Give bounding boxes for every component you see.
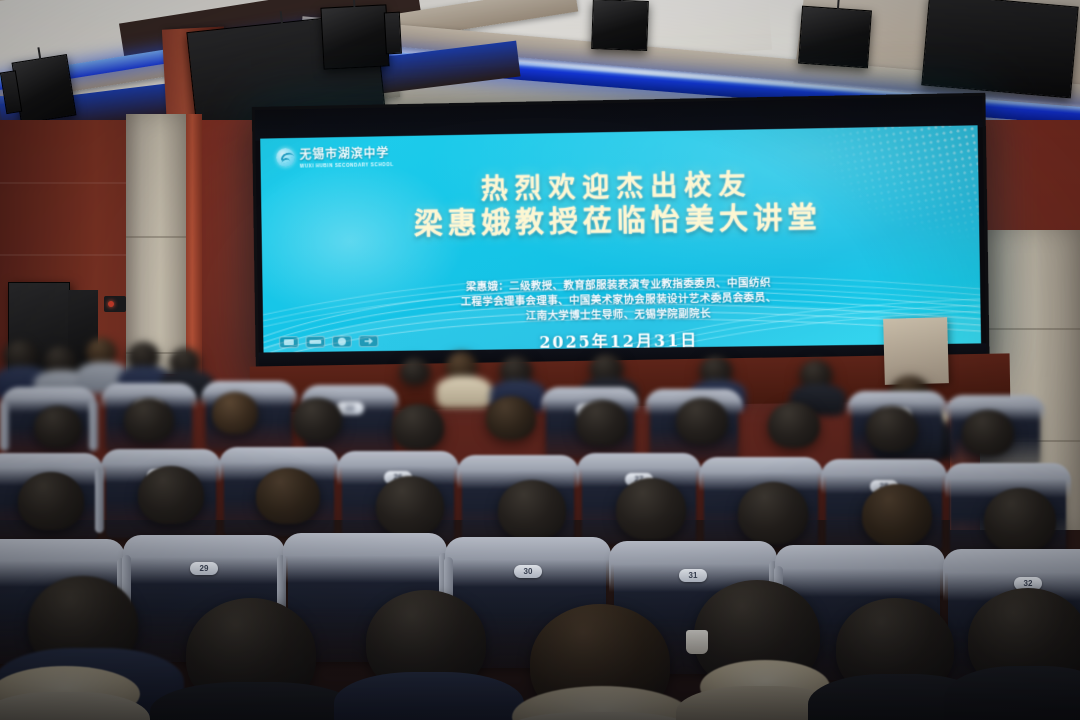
audience-head (862, 484, 932, 546)
ceiling-monitor (921, 0, 1078, 98)
slide-headline: 热烈欢迎杰出校友 梁惠娥教授莅临怡美大讲堂 (261, 166, 979, 245)
stage-light (11, 54, 76, 124)
audience-head (984, 488, 1056, 552)
seat-rim (123, 535, 285, 584)
audience-head (392, 404, 444, 450)
audience-head (738, 482, 808, 544)
audience-head (124, 398, 174, 442)
audience-head (18, 472, 84, 530)
audience-head (576, 400, 628, 446)
ceiling-speaker (798, 6, 872, 69)
audience-head (256, 468, 320, 524)
audience-shoulders (436, 376, 492, 408)
audience-head (962, 410, 1014, 456)
seat-armrest (89, 400, 98, 451)
seat-armrest (0, 400, 9, 451)
school-logo: 无锡市湖滨中学 WUXI HUBIN SECONDARY SCHOOL (276, 144, 394, 169)
school-name-cn: 无锡市湖滨中学 (300, 144, 394, 163)
school-emblem-icon (276, 148, 295, 167)
audience-head (866, 406, 918, 452)
stage-light-barndoor (384, 12, 402, 55)
audience-head (212, 392, 258, 434)
presentation-slide: 无锡市湖滨中学 WUXI HUBIN SECONDARY SCHOOL 热烈欢迎… (260, 125, 981, 354)
seat-rim (283, 533, 447, 583)
wall-device (104, 296, 126, 312)
stage-light (320, 4, 389, 69)
audience-area: 21 22 23 24 (0, 330, 1080, 720)
audience-head (34, 406, 82, 448)
seat-rim (445, 537, 611, 587)
audience-head (376, 476, 444, 536)
audience-shoulders (150, 682, 360, 720)
ceiling-speaker (591, 0, 649, 51)
seat-number: 30 (514, 565, 542, 578)
audience-head (400, 358, 430, 385)
audience-head (486, 396, 536, 440)
audience-head (292, 398, 342, 442)
seat-rim (775, 545, 945, 597)
status-led-icon (108, 301, 114, 307)
slide-subtitle: 梁惠娥：二级教授、教育部服装表演专业教指委委员、中国纺织 工程学会理事会理事、中… (262, 273, 980, 328)
seat-number: 31 (679, 569, 707, 582)
audience-head (616, 478, 686, 540)
audience-head (768, 402, 820, 448)
seat-number: 29 (190, 562, 218, 575)
audience-shoulders (334, 672, 524, 720)
audience-head (86, 338, 116, 365)
auditorium-photo: 无锡市湖滨中学 WUXI HUBIN SECONDARY SCHOOL 热烈欢迎… (0, 0, 1080, 720)
audience-head (138, 466, 204, 524)
paper-cup (686, 630, 708, 654)
audience-head (676, 398, 728, 444)
audience-head (498, 480, 566, 540)
